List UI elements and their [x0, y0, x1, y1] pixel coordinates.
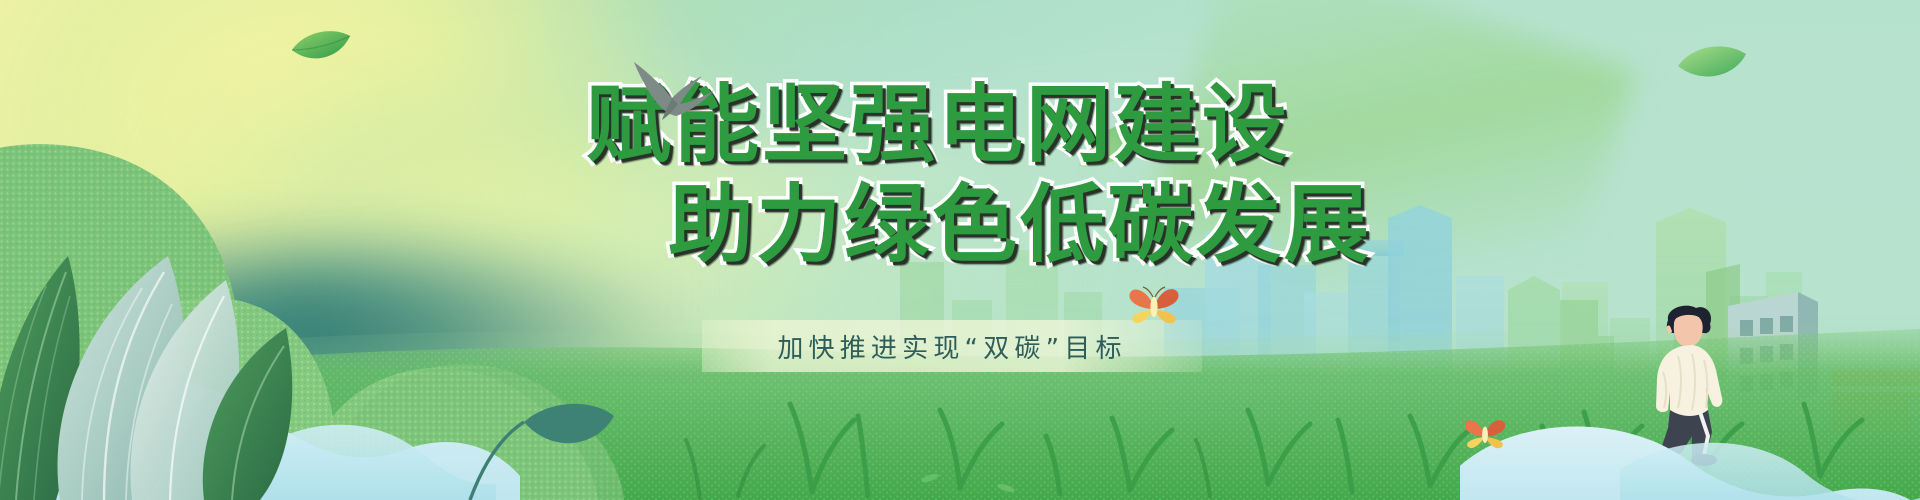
swallow-bird-icon: [628, 58, 724, 122]
eco-power-grid-banner: 加快推进实现“双碳”目标 赋能坚强电网建设 助力绿色低碳发展: [0, 0, 1920, 500]
butterfly-left-icon: [1126, 283, 1182, 329]
butterfly-right-icon: [1462, 415, 1508, 453]
foreground-leaves: [0, 200, 700, 500]
